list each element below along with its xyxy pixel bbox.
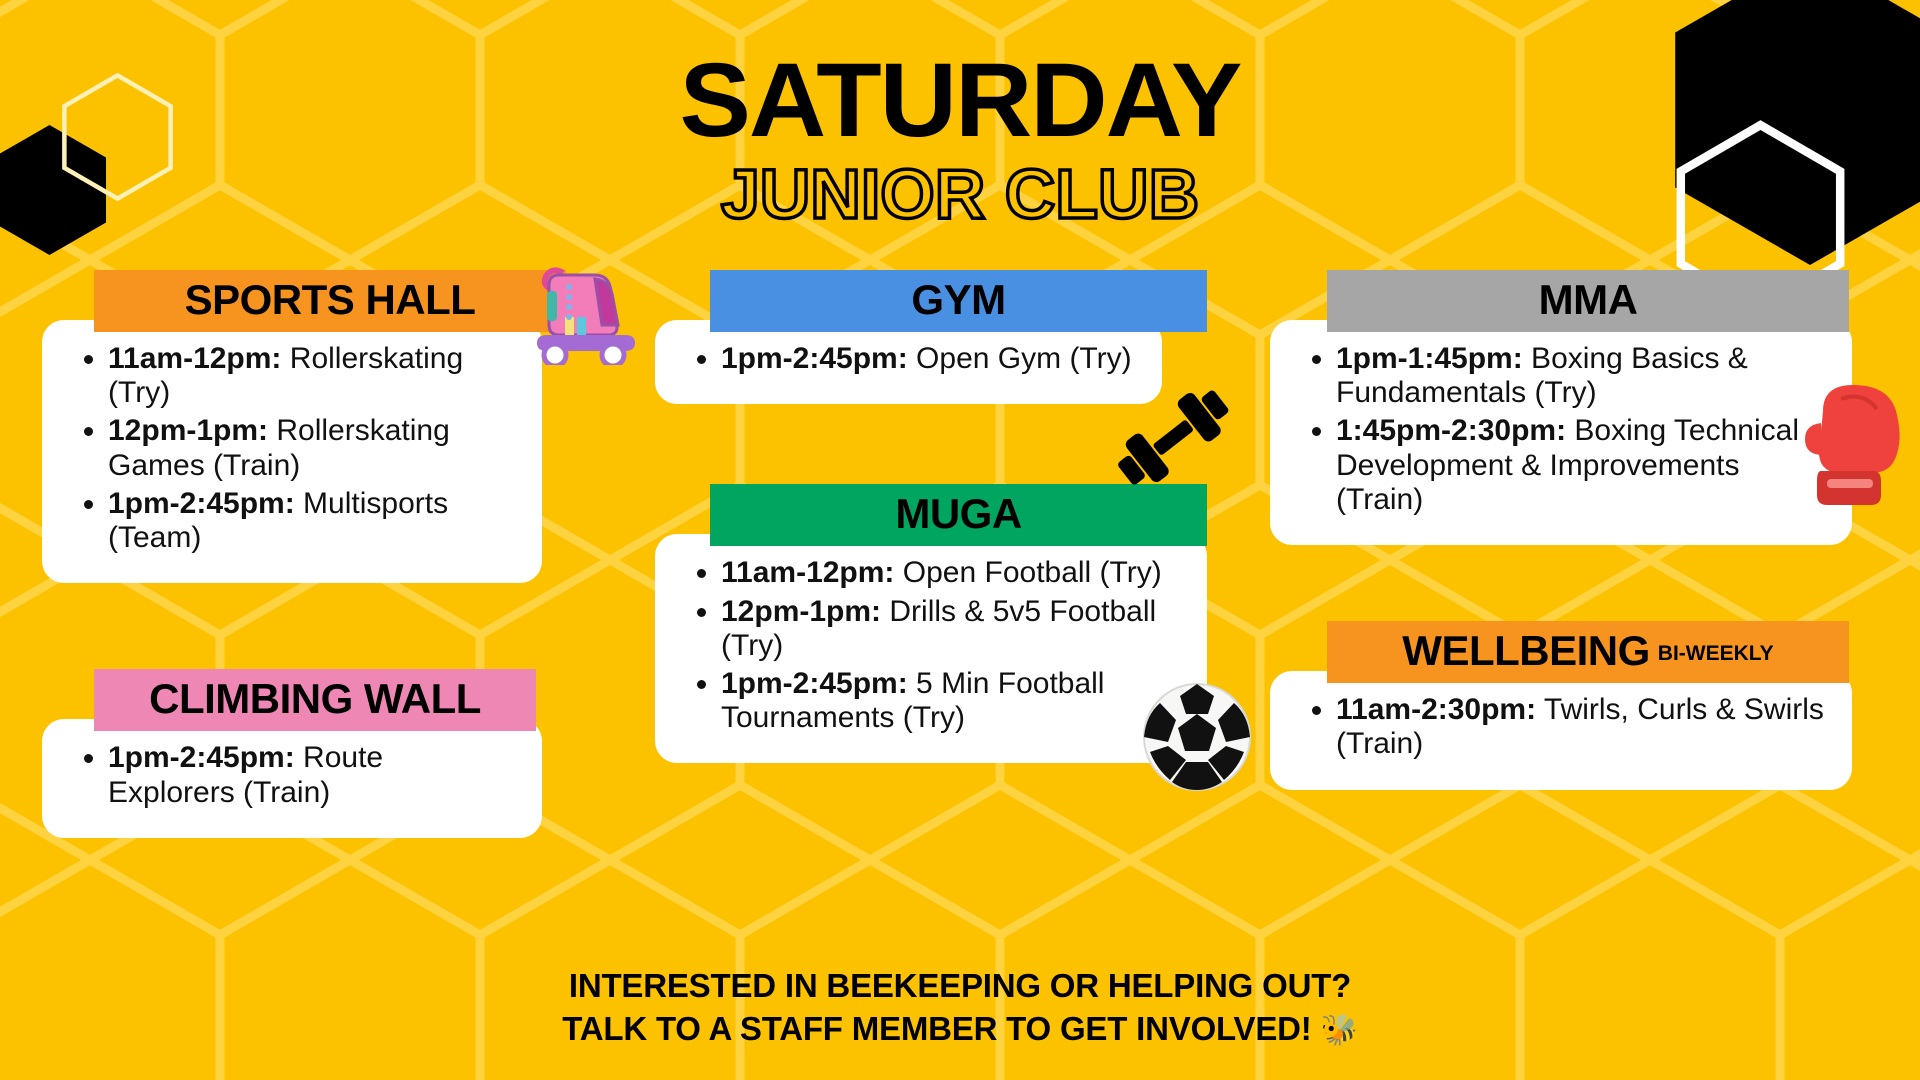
- card-title-wellbeing: WELLBEING: [1402, 627, 1649, 674]
- card-title-muga: MUGA: [895, 490, 1021, 537]
- footer-line-2-wrap: TALK TO A STAFF MEMBER TO GET INVOLVED! …: [0, 1008, 1920, 1050]
- activity-time: 11am-2:30pm:: [1336, 693, 1536, 726]
- activity-list-wellbeing: 11am-2:30pm: Twirls, Curls & Swirls (Tra…: [1296, 693, 1826, 761]
- card-body-climbing-wall: 1pm-2:45pm: Route Explorers (Train): [42, 719, 542, 837]
- column-middle: GYM 1pm-2:45pm: Open Gym (Try) MUGA 11am…: [655, 270, 1210, 791]
- activity-time: 1pm-2:45pm:: [721, 342, 908, 375]
- card-muga: MUGA 11am-12pm: Open Football (Try) 12pm…: [655, 484, 1210, 763]
- card-title-mma: MMA: [1539, 276, 1638, 323]
- card-mma: MMA 1pm-1:45pm: Boxing Basics & Fundamen…: [1270, 270, 1870, 545]
- list-item: 1pm-2:45pm: Multisports (Team): [108, 487, 516, 555]
- list-item: 11am-12pm: Rollerskating (Try): [108, 342, 516, 410]
- column-left: SPORTS HALL 11am-12pm: Rollerskating (Tr…: [42, 270, 602, 866]
- card-title-sports-hall: SPORTS HALL: [185, 276, 476, 323]
- list-item: 1:45pm-2:30pm: Boxing Technical Developm…: [1336, 414, 1826, 517]
- card-body-mma: 1pm-1:45pm: Boxing Basics & Fundamentals…: [1270, 320, 1852, 545]
- activity-list-sports-hall: 11am-12pm: Rollerskating (Try) 12pm-1pm:…: [68, 342, 516, 555]
- activity-time: 11am-12pm:: [108, 342, 281, 375]
- activity-list-gym: 1pm-2:45pm: Open Gym (Try): [681, 342, 1136, 376]
- card-title-climbing-wall: CLIMBING WALL: [149, 675, 481, 722]
- footer-line-1: INTERESTED IN BEEKEEPING OR HELPING OUT?: [0, 965, 1920, 1007]
- activity-time: 1pm-2:45pm:: [721, 667, 908, 700]
- football-icon: [1140, 680, 1255, 795]
- boxing-glove-icon: [1793, 375, 1920, 525]
- list-item: 1pm-2:45pm: 5 Min Football Tournaments (…: [721, 667, 1181, 735]
- card-header-gym: GYM: [710, 270, 1207, 332]
- card-header-wellbeing: WELLBEINGBI-WEEKLY: [1327, 621, 1849, 683]
- footer-line-2: TALK TO A STAFF MEMBER TO GET INVOLVED!: [562, 1010, 1311, 1047]
- schedule-board: SPORTS HALL 11am-12pm: Rollerskating (Tr…: [0, 270, 1920, 970]
- activity-time: 12pm-1pm:: [108, 414, 268, 447]
- list-item: 1pm-2:45pm: Open Gym (Try): [721, 342, 1136, 376]
- card-body-gym: 1pm-2:45pm: Open Gym (Try): [655, 320, 1162, 404]
- roller-skate-icon: [525, 265, 655, 365]
- card-body-wellbeing: 11am-2:30pm: Twirls, Curls & Swirls (Tra…: [1270, 671, 1852, 789]
- card-climbing-wall: CLIMBING WALL 1pm-2:45pm: Route Explorer…: [42, 669, 602, 837]
- list-item: 11am-12pm: Open Football (Try): [721, 556, 1181, 590]
- activity-time: 1pm-2:45pm:: [108, 487, 295, 520]
- spacer: [42, 611, 602, 669]
- activity-time: 1:45pm-2:30pm:: [1336, 414, 1566, 447]
- activity-time: 12pm-1pm:: [721, 595, 881, 628]
- poster-header: SATURDAY JUNIOR CLUB: [0, 48, 1920, 229]
- status-badge: BI-WEEKLY: [1658, 642, 1774, 665]
- activity-time: 11am-12pm:: [721, 556, 894, 589]
- footer-callout: INTERESTED IN BEEKEEPING OR HELPING OUT?…: [0, 965, 1920, 1050]
- column-right: MMA 1pm-1:45pm: Boxing Basics & Fundamen…: [1270, 270, 1870, 818]
- card-body-sports-hall: 11am-12pm: Rollerskating (Try) 12pm-1pm:…: [42, 320, 542, 583]
- card-title-gym: GYM: [911, 276, 1005, 323]
- list-item: 1pm-2:45pm: Route Explorers (Train): [108, 741, 516, 809]
- page-subtitle: JUNIOR CLUB: [0, 159, 1920, 229]
- card-header-mma: MMA: [1327, 270, 1849, 332]
- list-item: 12pm-1pm: Drills & 5v5 Football (Try): [721, 595, 1181, 663]
- page-title: SATURDAY: [0, 48, 1920, 153]
- card-header-climbing-wall: CLIMBING WALL: [94, 669, 536, 731]
- activity-list-mma: 1pm-1:45pm: Boxing Basics & Fundamentals…: [1296, 342, 1826, 517]
- card-body-muga: 11am-12pm: Open Football (Try) 12pm-1pm:…: [655, 534, 1207, 763]
- bee-icon: 🐝: [1321, 1014, 1358, 1047]
- card-header-sports-hall: SPORTS HALL: [94, 270, 566, 332]
- activity-time: 1pm-2:45pm:: [108, 741, 295, 774]
- dumbbell-icon: [1098, 375, 1243, 495]
- activity-list-muga: 11am-12pm: Open Football (Try) 12pm-1pm:…: [681, 556, 1181, 735]
- list-item: 11am-2:30pm: Twirls, Curls & Swirls (Tra…: [1336, 693, 1826, 761]
- activity-time: 1pm-1:45pm:: [1336, 342, 1523, 375]
- activity-name: Open Gym (Try): [908, 342, 1132, 375]
- activity-list-climbing-wall: 1pm-2:45pm: Route Explorers (Train): [68, 741, 516, 809]
- card-wellbeing: WELLBEINGBI-WEEKLY 11am-2:30pm: Twirls, …: [1270, 621, 1870, 789]
- list-item: 1pm-1:45pm: Boxing Basics & Fundamentals…: [1336, 342, 1826, 410]
- list-item: 12pm-1pm: Rollerskating Games (Train): [108, 414, 516, 482]
- activity-name: Open Football (Try): [894, 556, 1161, 589]
- spacer: [1270, 573, 1870, 621]
- card-sports-hall: SPORTS HALL 11am-12pm: Rollerskating (Tr…: [42, 270, 602, 583]
